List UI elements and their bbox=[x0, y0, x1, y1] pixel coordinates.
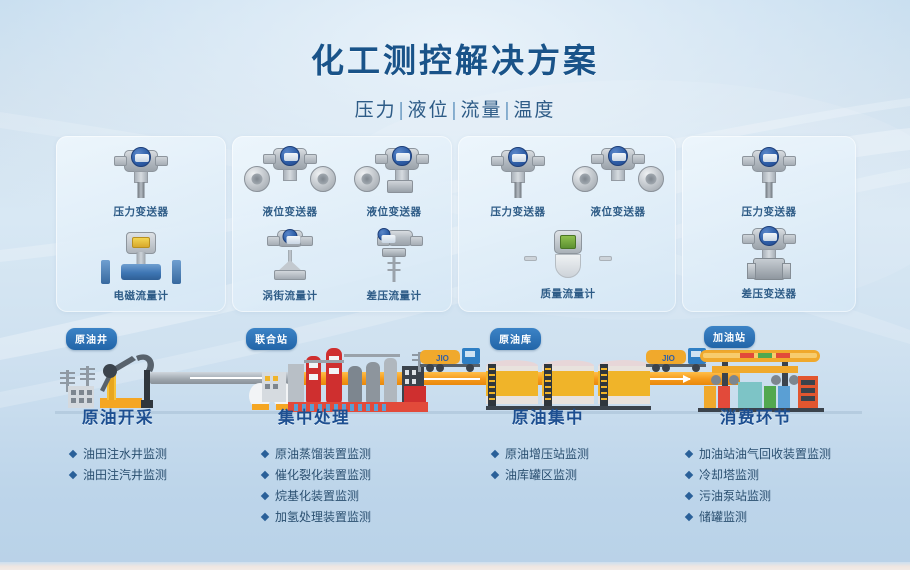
svg-text:JIO: JIO bbox=[662, 354, 675, 363]
subtitle-separator: | bbox=[399, 100, 406, 121]
level-transmitter-single-flange-icon bbox=[346, 146, 442, 202]
bullet-diamond-icon bbox=[685, 492, 693, 500]
stage-title: 原油集中 bbox=[470, 404, 670, 428]
product-label: 电磁流量计 bbox=[93, 288, 189, 303]
list-item: 催化裂化装置监测 bbox=[262, 465, 448, 486]
bullet-diamond-icon bbox=[261, 513, 269, 521]
bullet-diamond-icon bbox=[69, 471, 77, 479]
electromagnetic-flowmeter-icon bbox=[93, 230, 189, 286]
list-item-label: 烷基化装置监测 bbox=[275, 486, 359, 507]
product-level-transmitter-a[interactable]: 液位变送器 bbox=[242, 146, 338, 219]
list-item-label: 储罐监测 bbox=[699, 507, 747, 528]
product-label: 液位变送器 bbox=[570, 204, 666, 219]
bullet-diamond-icon bbox=[685, 471, 693, 479]
pressure-transmitter-icon bbox=[470, 146, 566, 202]
bullet-diamond-icon bbox=[685, 513, 693, 521]
bullet-diamond-icon bbox=[261, 492, 269, 500]
product-label: 压力变送器 bbox=[721, 204, 817, 219]
level-transmitter-flanged-icon bbox=[242, 146, 338, 202]
product-dp-flowmeter[interactable]: 差压流量计 bbox=[346, 230, 442, 303]
pressure-transmitter-icon bbox=[721, 146, 817, 202]
product-label: 液位变送器 bbox=[242, 204, 338, 219]
list-item: 储罐监测 bbox=[686, 507, 892, 528]
differential-pressure-transmitter-icon bbox=[721, 228, 817, 284]
stage-badge-gathering-station[interactable]: 联合站 bbox=[246, 328, 297, 350]
stage-bullet-list: 原油增压站监测 油库罐区监测 bbox=[470, 444, 670, 486]
stage-badge-gas-station[interactable]: 加油站 bbox=[704, 326, 755, 348]
product-label: 质量流量计 bbox=[520, 286, 616, 301]
product-card-4[interactable]: 压力变送器 差压变送器 bbox=[682, 136, 856, 312]
pressure-transmitter-icon bbox=[93, 146, 189, 202]
product-card-row: 压力变送器 电磁流量计 液位变送器 bbox=[0, 136, 910, 312]
subtitle-part-flow: 流量 bbox=[460, 100, 502, 121]
bullet-diamond-icon bbox=[685, 450, 693, 458]
bullet-diamond-icon bbox=[491, 450, 499, 458]
stage-column-1: 原油开采 油田注水井监测 油田注汽井监测 bbox=[56, 404, 246, 486]
product-pressure-transmitter[interactable]: 压力变送器 bbox=[93, 146, 189, 219]
differential-pressure-flowmeter-icon bbox=[346, 230, 442, 286]
list-item-label: 催化裂化装置监测 bbox=[275, 465, 371, 486]
list-item: 油田注水井监测 bbox=[70, 444, 246, 465]
page-subtitle: 压力|液位|流量|温度 bbox=[0, 95, 910, 122]
list-item: 油库罐区监测 bbox=[492, 465, 670, 486]
list-item: 冷却塔监测 bbox=[686, 465, 892, 486]
stage-title: 集中处理 bbox=[248, 404, 448, 428]
product-label: 压力变送器 bbox=[93, 204, 189, 219]
list-item-label: 加氢处理装置监测 bbox=[275, 507, 371, 528]
page-title: 化工测控解决方案 bbox=[0, 34, 910, 82]
bullet-diamond-icon bbox=[261, 450, 269, 458]
product-label: 液位变送器 bbox=[346, 204, 442, 219]
stage-title: 消费环节 bbox=[672, 404, 892, 428]
list-item: 原油蒸馏装置监测 bbox=[262, 444, 448, 465]
list-item: 污油泵站监测 bbox=[686, 486, 892, 507]
product-label: 涡街流量计 bbox=[242, 288, 338, 303]
stage-column-4: 消费环节 加油站油气回收装置监测 冷却塔监测 污油泵站监测 储罐监测 bbox=[672, 404, 892, 528]
stage-title: 原油开采 bbox=[56, 404, 246, 428]
list-item-label: 原油蒸馏装置监测 bbox=[275, 444, 371, 465]
list-item-label: 原油增压站监测 bbox=[505, 444, 589, 465]
list-item: 油田注汽井监测 bbox=[70, 465, 246, 486]
product-level-transmitter-b[interactable]: 液位变送器 bbox=[346, 146, 442, 219]
stage-bullet-list: 原油蒸馏装置监测 催化裂化装置监测 烷基化装置监测 加氢处理装置监测 bbox=[248, 444, 448, 528]
product-pressure-transmitter[interactable]: 压力变送器 bbox=[470, 146, 566, 219]
product-electromagnetic-flowmeter[interactable]: 电磁流量计 bbox=[93, 230, 189, 303]
product-vortex-flowmeter[interactable]: 涡街流量计 bbox=[242, 230, 338, 303]
stage-badge-crude-depot[interactable]: 原油库 bbox=[490, 328, 541, 350]
product-pressure-transmitter[interactable]: 压力变送器 bbox=[721, 146, 817, 219]
list-item: 烷基化装置监测 bbox=[262, 486, 448, 507]
stage-column-3: 原油集中 原油增压站监测 油库罐区监测 bbox=[470, 404, 670, 486]
list-item: 加氢处理装置监测 bbox=[262, 507, 448, 528]
solution-poster: 化工测控解决方案 压力|液位|流量|温度 压力变送器 电磁流量计 bbox=[0, 0, 910, 570]
product-label: 压力变送器 bbox=[470, 204, 566, 219]
subtitle-separator: | bbox=[504, 100, 511, 121]
stage-bullet-list: 油田注水井监测 油田注汽井监测 bbox=[56, 444, 246, 486]
bullet-diamond-icon bbox=[69, 450, 77, 458]
vortex-flowmeter-icon bbox=[242, 230, 338, 286]
subtitle-part-temperature: 温度 bbox=[513, 100, 555, 121]
list-item: 加油站油气回收装置监测 bbox=[686, 444, 892, 465]
list-item-label: 油田注汽井监测 bbox=[83, 465, 167, 486]
product-card-2[interactable]: 液位变送器 液位变送器 涡街流量计 bbox=[232, 136, 452, 312]
list-item-label: 油库罐区监测 bbox=[505, 465, 577, 486]
tanker-truck-1: JIO bbox=[418, 344, 484, 372]
level-transmitter-flanged-icon bbox=[570, 146, 666, 202]
svg-text:JIO: JIO bbox=[436, 354, 449, 363]
list-item-label: 污油泵站监测 bbox=[699, 486, 771, 507]
subtitle-part-level: 液位 bbox=[408, 100, 450, 121]
list-item-label: 加油站油气回收装置监测 bbox=[699, 444, 831, 465]
product-card-3[interactable]: 压力变送器 液位变送器 质量流量计 bbox=[458, 136, 676, 312]
mass-flowmeter-icon bbox=[520, 228, 616, 284]
stage-column-2: 集中处理 原油蒸馏装置监测 催化裂化装置监测 烷基化装置监测 加氢处理装置监测 bbox=[248, 404, 448, 528]
list-item: 原油增压站监测 bbox=[492, 444, 670, 465]
subtitle-part-pressure: 压力 bbox=[355, 100, 397, 121]
product-label: 差压流量计 bbox=[346, 288, 442, 303]
subtitle-separator: | bbox=[452, 100, 459, 121]
product-label: 差压变送器 bbox=[721, 286, 817, 301]
product-dp-transmitter[interactable]: 差压变送器 bbox=[721, 228, 817, 301]
stage-badge-oil-well[interactable]: 原油井 bbox=[66, 328, 117, 350]
list-item-label: 冷却塔监测 bbox=[699, 465, 759, 486]
list-item-label: 油田注水井监测 bbox=[83, 444, 167, 465]
poster-header: 化工测控解决方案 压力|液位|流量|温度 bbox=[0, 34, 910, 122]
stage-bullet-list: 加油站油气回收装置监测 冷却塔监测 污油泵站监测 储罐监测 bbox=[672, 444, 892, 528]
product-card-1[interactable]: 压力变送器 电磁流量计 bbox=[56, 136, 226, 312]
bullet-diamond-icon bbox=[491, 471, 499, 479]
product-level-transmitter[interactable]: 液位变送器 bbox=[570, 146, 666, 219]
product-mass-flowmeter[interactable]: 质量流量计 bbox=[520, 228, 616, 301]
bottom-strip bbox=[0, 562, 910, 570]
bullet-diamond-icon bbox=[261, 471, 269, 479]
